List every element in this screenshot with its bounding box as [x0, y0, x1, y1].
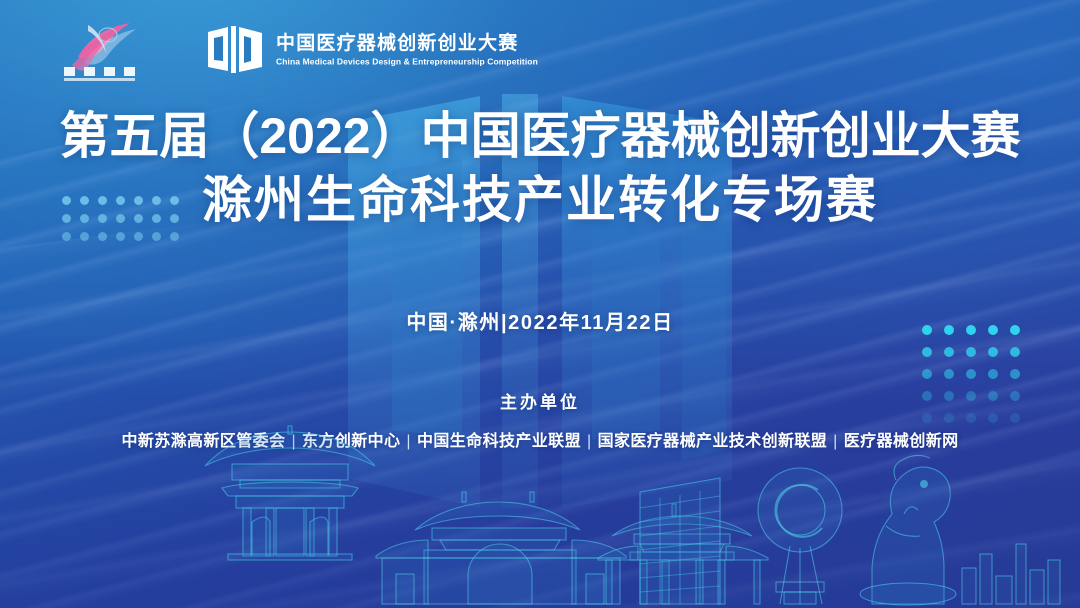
organizer-item: 医疗器械创新网: [844, 433, 959, 450]
chinese-memorial-arch-icon: [598, 504, 768, 604]
innovation-china-logo: [58, 17, 150, 83]
innovation-china-wordmark: [64, 67, 135, 81]
poster-header: 中国医疗器械创新创业大赛 China Medical Devices Desig…: [0, 0, 1080, 100]
merlion-statue-icon: [860, 455, 956, 605]
organizer-separator: |: [400, 433, 417, 450]
phoenix-bird-icon: [72, 23, 136, 71]
poster-canvas: 中国医疗器械创新创业大赛 China Medical Devices Desig…: [0, 0, 1080, 608]
modern-office-tower-icon: [640, 478, 720, 604]
organizer-item: 中新苏滁高新区管委会: [121, 433, 285, 450]
organizer-item: 国家医疗器械产业技术创新联盟: [598, 433, 828, 450]
organizer-item: 东方创新中心: [302, 433, 400, 450]
competition-logo: 中国医疗器械创新创业大赛 China Medical Devices Desig…: [206, 25, 538, 75]
competition-logo-en: China Medical Devices Design & Entrepren…: [276, 57, 538, 67]
organizer-separator: |: [827, 433, 844, 450]
organizers-list: 中新苏滁高新区管委会|东方创新中心|中国生命科技产业联盟|国家医疗器械产业技术创…: [0, 427, 1080, 451]
chinese-city-gate-icon: [376, 492, 626, 604]
organizer-separator: |: [285, 433, 302, 450]
circular-sculpture-icon: [758, 468, 842, 604]
poster-title-line2: 滁州生命科技产业转化专场赛: [0, 172, 1080, 228]
organizer-separator: |: [581, 433, 598, 450]
poster-titles: 第五届（2022）中国医疗器械创新创业大赛 滁州生命科技产业转化专场赛: [0, 108, 1080, 228]
city-buildings-icon: [962, 544, 1060, 604]
bottom-glow-overlay: [0, 328, 1080, 608]
open-gate-icon: [206, 25, 264, 75]
organizers-heading: 主办单位: [0, 388, 1080, 413]
competition-logo-cn: 中国医疗器械创新创业大赛: [276, 33, 538, 55]
organizer-item: 中国生命科技产业联盟: [417, 433, 581, 450]
event-date-location: 中国·滁州|2022年11月22日: [0, 306, 1080, 335]
organizers-section: 主办单位 中新苏滁高新区管委会|东方创新中心|中国生命科技产业联盟|国家医疗器械…: [0, 388, 1080, 451]
poster-title-line1: 第五届（2022）中国医疗器械创新创业大赛: [0, 108, 1080, 164]
